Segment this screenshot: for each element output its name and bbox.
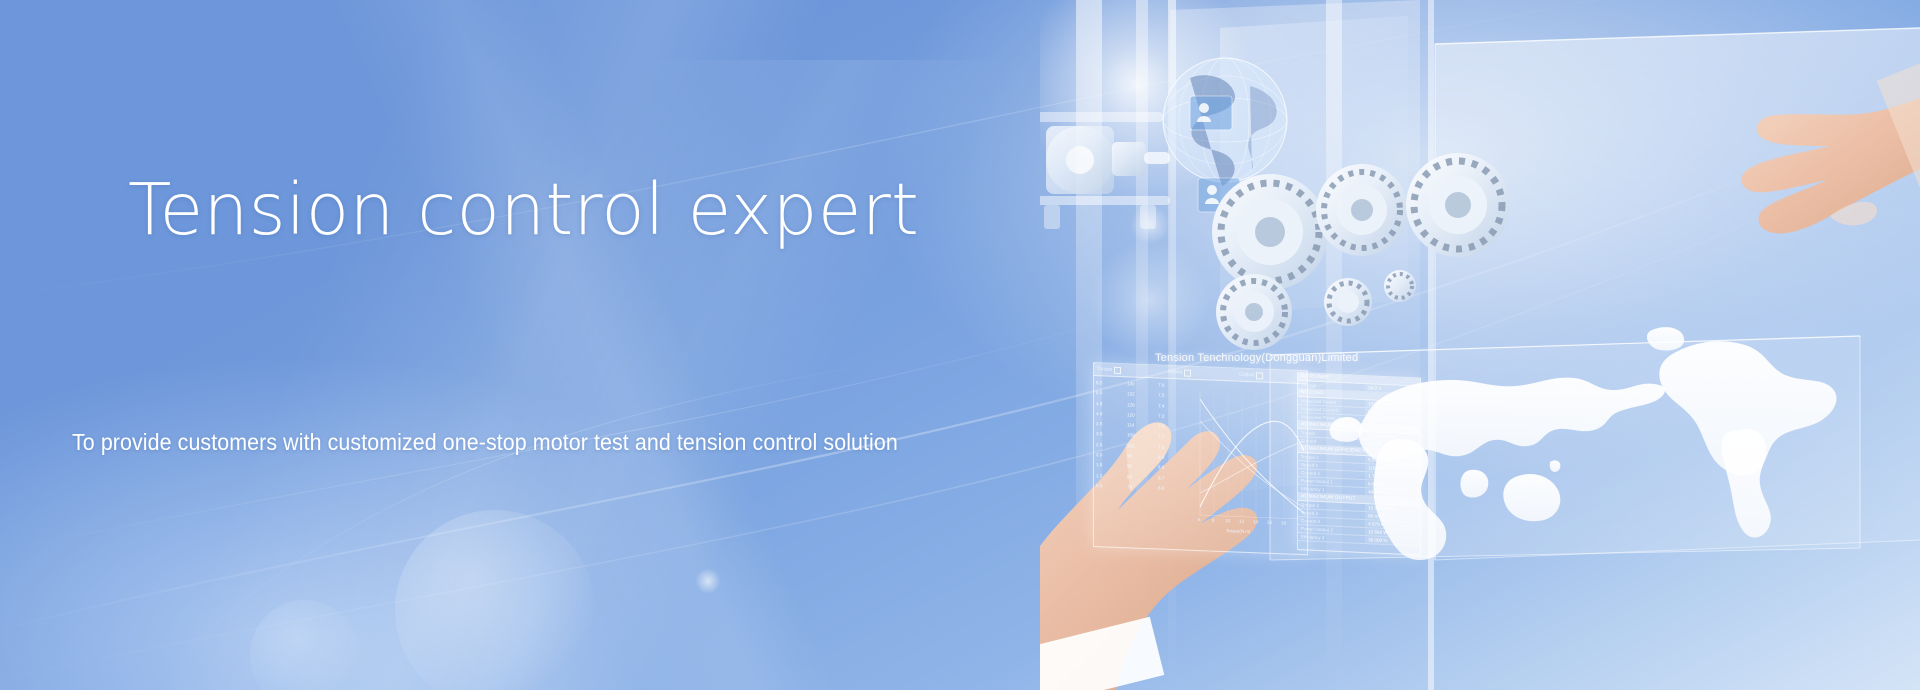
instrument-cell: 7.5 <box>1158 391 1189 402</box>
instrument-cell: 78 <box>1127 482 1158 493</box>
torque-chart: 6 8 10 12 14 16 18 Torque(N.m) <box>1190 381 1308 554</box>
gear-small-lower-right <box>1324 278 1372 326</box>
chart-x-tick: 18 <box>1281 520 1286 525</box>
instrument-cell: 132 <box>1127 390 1158 401</box>
chart-x-tick: 10 <box>1225 518 1230 523</box>
page-title: Tension control expert <box>128 172 1068 247</box>
gear-large-left <box>1212 174 1328 290</box>
instrument-column: 7.67.57.47.37.27.17.06.96.86.76.6 <box>1158 380 1189 494</box>
instrument-cell: 6.8 <box>1158 463 1189 474</box>
bokeh-dot <box>695 568 721 594</box>
instrument-cell: 6.6 <box>1158 483 1189 494</box>
instrument-column: 5.55.04.54.03.53.02.52.01.51.00.5 <box>1096 378 1127 492</box>
gear-medium-center <box>1316 164 1408 256</box>
sns-card-top <box>1190 96 1232 130</box>
column-header-speed: Speed <box>1165 368 1236 378</box>
instrument-column: 14013212612011410810296908478 <box>1127 379 1158 493</box>
waveform-icon <box>1256 372 1263 379</box>
hero-banner: Tension control expert To provide custom… <box>0 0 1920 690</box>
readout-row-value: 39.000 % <box>1365 536 1420 545</box>
instrument-cell: 1.5 <box>1096 460 1127 471</box>
bokeh-circle-small <box>250 600 360 690</box>
banner-copy: Tension control expert To provide custom… <box>128 172 1068 247</box>
chart-x-axis-label: Torque(N.m) <box>1226 528 1250 534</box>
light-streak-2 <box>0 60 1200 690</box>
torque-column-label: Torque <box>1097 366 1112 373</box>
chart-x-tick: 16 <box>1267 520 1272 525</box>
instrument-cell: 0.5 <box>1096 481 1127 492</box>
chart-x-tick: 6 <box>1198 517 1200 522</box>
light-streak-3 <box>0 0 1100 690</box>
motor-readout-panel[interactable]: DC POWERVoltage24.0 VNO LOADMeasured Spe… <box>1297 372 1421 556</box>
waveform-icon <box>1114 366 1121 373</box>
chart-x-tick: 14 <box>1253 519 1258 524</box>
instrument-panel[interactable]: Torque Speed Output 5.55.04.54.03.53.02.… <box>1093 362 1308 555</box>
bokeh-circle-large <box>395 510 595 690</box>
column-header-torque: Torque <box>1094 366 1165 376</box>
hologram-brand-label: Tension Tenchnology(Dongguan)Limited <box>1155 352 1358 364</box>
instrument-cell: 5.0 <box>1096 388 1127 399</box>
hologram-illustration: 8420619375 3097254816 6182730945 2849160… <box>1040 0 1920 690</box>
gear-tiny <box>1384 270 1416 302</box>
gear-large-right <box>1406 153 1510 257</box>
page-subtitle: To provide customers with customized one… <box>72 429 898 456</box>
speed-column-label: Speed <box>1168 369 1182 376</box>
lens-flare-secondary <box>1090 240 1210 360</box>
chart-x-tick: 8 <box>1212 518 1214 523</box>
chart-x-tick: 12 <box>1239 519 1244 524</box>
gear-small-lower-left <box>1216 274 1292 350</box>
instrument-cell: 90 <box>1127 462 1158 473</box>
hologram-svg <box>1040 0 1920 690</box>
output-column-label: Output <box>1239 372 1254 379</box>
waveform-icon <box>1184 369 1191 376</box>
